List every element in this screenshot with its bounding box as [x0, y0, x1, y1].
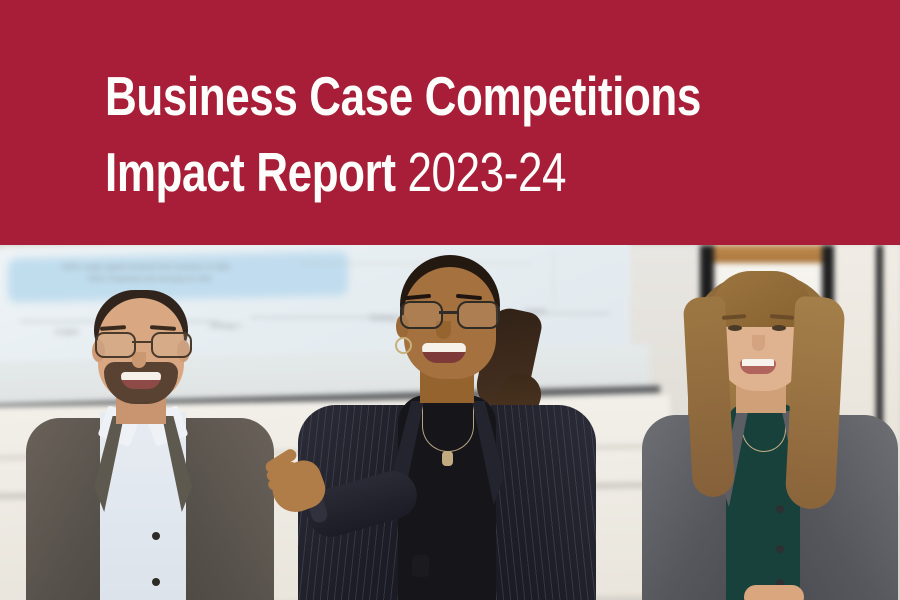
lens-left — [95, 332, 136, 358]
teeth — [422, 343, 466, 352]
lens-left — [400, 301, 443, 329]
title-line-2-year: 2023-24 — [396, 141, 567, 203]
blazer-button — [776, 545, 784, 553]
blazer-button — [776, 505, 784, 513]
nose — [752, 335, 765, 351]
wood-trim — [712, 245, 832, 263]
presentation-photo: 2024: Large capital increase from invest… — [0, 245, 900, 600]
mouth — [422, 343, 466, 363]
presenter-center — [300, 255, 600, 600]
teeth — [121, 372, 161, 380]
jacket-button — [152, 578, 160, 586]
impact-report-banner-image: Business Case Competitions Impact Report… — [0, 0, 900, 600]
teeth — [742, 359, 774, 366]
title-line-1: Business Case Competitions — [105, 58, 713, 134]
hoop-earring — [395, 337, 412, 354]
title-banner: Business Case Competitions Impact Report… — [0, 0, 900, 245]
page-title: Business Case Competitions Impact Report… — [105, 58, 865, 210]
glasses-bridge — [132, 341, 151, 343]
lens-right — [151, 332, 192, 358]
necklace-pendant — [442, 451, 453, 466]
mouth — [740, 359, 776, 374]
title-line-2-bold: Impact Report — [105, 141, 396, 203]
eyeglasses — [93, 332, 190, 354]
clasped-hands — [744, 585, 804, 600]
wristwatch — [412, 555, 429, 577]
presenter-left — [28, 290, 278, 600]
eyeglasses — [398, 301, 498, 325]
presenter-right — [640, 267, 900, 600]
eye-right — [772, 325, 786, 331]
mouth — [121, 372, 161, 389]
eye-left — [728, 325, 742, 331]
title-line-2: Impact Report 2023-24 — [105, 134, 713, 210]
jacket-button — [152, 532, 160, 540]
slide-callout-line-1: 2024: Large capital increase from invest… — [62, 264, 230, 271]
slide-callout-line-2: 2025: Projected cost increase of 15% — [88, 276, 211, 283]
lens-right — [457, 301, 500, 329]
glasses-bridge — [439, 311, 457, 314]
